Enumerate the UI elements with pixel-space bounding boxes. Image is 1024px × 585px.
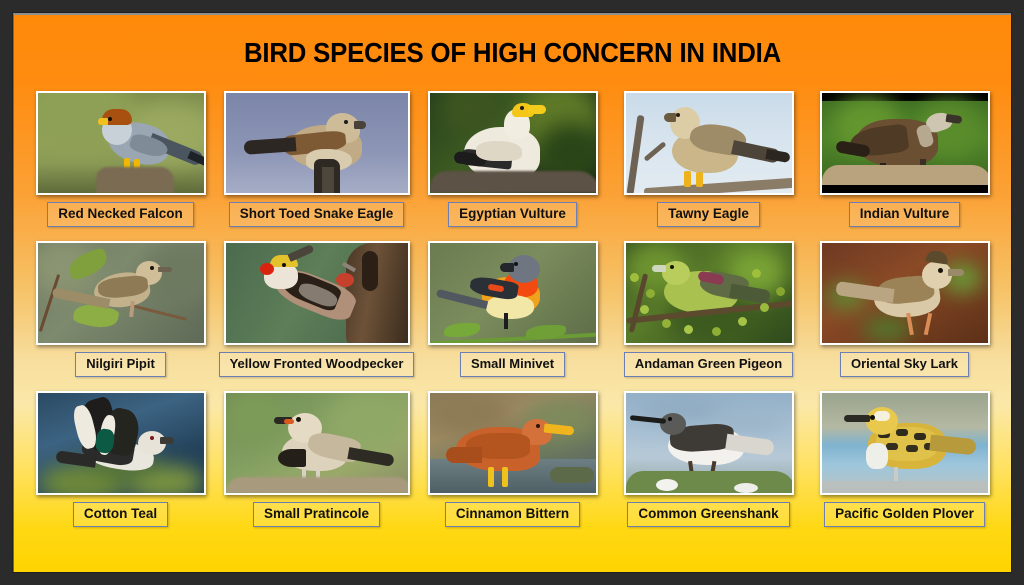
bird-card-common-greenshank[interactable]: Common Greenshank bbox=[613, 391, 805, 527]
bird-row: Nilgiri Pipit bbox=[14, 241, 1011, 377]
small-minivet-photo bbox=[428, 241, 598, 345]
bird-label: Tawny Eagle bbox=[657, 202, 760, 227]
bird-label: Cotton Teal bbox=[73, 502, 168, 527]
bird-label: Yellow Fronted Woodpecker bbox=[219, 352, 415, 377]
bird-row: Cotton Teal bbox=[14, 391, 1011, 527]
pacific-golden-plover-photo bbox=[820, 391, 990, 495]
bird-card-small-pratincole[interactable]: Small Pratincole bbox=[221, 391, 413, 527]
bird-card-red-necked-falcon[interactable]: Red Necked Falcon bbox=[25, 91, 217, 227]
red-necked-falcon-photo bbox=[36, 91, 206, 195]
bird-label: Egyptian Vulture bbox=[448, 202, 577, 227]
small-pratincole-photo bbox=[224, 391, 410, 495]
bird-label: Nilgiri Pipit bbox=[75, 352, 166, 377]
bird-grid: Red Necked Falcon bbox=[14, 91, 1011, 527]
bird-label: Short Toed Snake Eagle bbox=[229, 202, 405, 227]
tawny-eagle-photo bbox=[624, 91, 794, 195]
bird-label: Andaman Green Pigeon bbox=[624, 352, 793, 377]
bird-label: Indian Vulture bbox=[849, 202, 961, 227]
yellow-fronted-woodpecker-photo bbox=[224, 241, 410, 345]
nilgiri-pipit-photo bbox=[36, 241, 206, 345]
bird-card-nilgiri-pipit[interactable]: Nilgiri Pipit bbox=[25, 241, 217, 377]
bird-card-cinnamon-bittern[interactable]: Cinnamon Bittern bbox=[417, 391, 609, 527]
bird-label: Oriental Sky Lark bbox=[840, 352, 969, 377]
bird-card-oriental-sky-lark[interactable]: Oriental Sky Lark bbox=[809, 241, 1001, 377]
bird-label: Cinnamon Bittern bbox=[445, 502, 580, 527]
bird-card-short-toed-snake-eagle[interactable]: Short Toed Snake Eagle bbox=[221, 91, 413, 227]
short-toed-snake-eagle-photo bbox=[224, 91, 410, 195]
indian-vulture-photo bbox=[820, 91, 990, 195]
bird-card-small-minivet[interactable]: Small Minivet bbox=[417, 241, 609, 377]
bird-label: Common Greenshank bbox=[627, 502, 789, 527]
bird-card-yellow-fronted-woodpecker[interactable]: Yellow Fronted Woodpecker bbox=[221, 241, 413, 377]
bird-card-andaman-green-pigeon[interactable]: Andaman Green Pigeon bbox=[613, 241, 805, 377]
common-greenshank-photo bbox=[624, 391, 794, 495]
egyptian-vulture-photo bbox=[428, 91, 598, 195]
page-title: BIRD SPECIES OF HIGH CONCERN IN INDIA bbox=[54, 15, 971, 69]
bird-label: Small Pratincole bbox=[253, 502, 380, 527]
poster: BIRD SPECIES OF HIGH CONCERN IN INDIA bbox=[13, 13, 1011, 572]
bird-label: Red Necked Falcon bbox=[47, 202, 194, 227]
oriental-sky-lark-photo bbox=[820, 241, 990, 345]
bird-row: Red Necked Falcon bbox=[14, 91, 1011, 227]
andaman-green-pigeon-photo bbox=[624, 241, 794, 345]
bird-card-egyptian-vulture[interactable]: Egyptian Vulture bbox=[417, 91, 609, 227]
bird-card-cotton-teal[interactable]: Cotton Teal bbox=[25, 391, 217, 527]
bird-card-tawny-eagle[interactable]: Tawny Eagle bbox=[613, 91, 805, 227]
cotton-teal-photo bbox=[36, 391, 206, 495]
bird-label: Small Minivet bbox=[460, 352, 565, 377]
bird-label: Pacific Golden Plover bbox=[824, 502, 985, 527]
bird-card-indian-vulture[interactable]: Indian Vulture bbox=[809, 91, 1001, 227]
bird-card-pacific-golden-plover[interactable]: Pacific Golden Plover bbox=[809, 391, 1001, 527]
cinnamon-bittern-photo bbox=[428, 391, 598, 495]
